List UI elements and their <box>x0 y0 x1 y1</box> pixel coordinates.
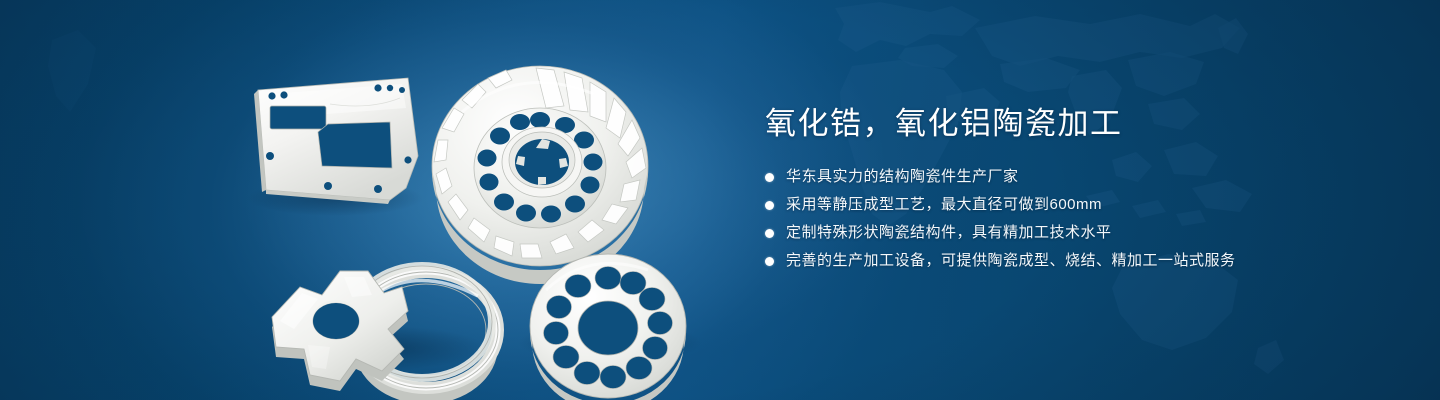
feature-text: 完善的生产加工设备，可提供陶瓷成型、烧结、精加工一站式服务 <box>786 250 1236 272</box>
ceramic-plate-part <box>254 78 418 204</box>
banner-text-block: 氧化锆，氧化铝陶瓷加工 华东具实力的结构陶瓷件生产厂家 采用等静压成型工艺，最大… <box>765 104 1385 278</box>
ceramic-products-image <box>230 38 710 388</box>
ceramic-processing-banner: 氧化锆，氧化铝陶瓷加工 华东具实力的结构陶瓷件生产厂家 采用等静压成型工艺，最大… <box>0 0 1440 400</box>
feature-text: 采用等静压成型工艺，最大直径可做到600mm <box>786 194 1102 216</box>
list-item: 完善的生产加工设备，可提供陶瓷成型、烧结、精加工一站式服务 <box>765 250 1385 272</box>
ceramic-hole-disc-part <box>530 254 686 400</box>
list-item: 华东具实力的结构陶瓷件生产厂家 <box>765 166 1385 188</box>
bullet-dot-icon <box>765 201 774 210</box>
list-item: 采用等静压成型工艺，最大直径可做到600mm <box>765 194 1385 216</box>
bullet-dot-icon <box>765 257 774 266</box>
ceramic-impeller-part <box>432 66 648 284</box>
feature-text: 定制特殊形状陶瓷结构件，具有精加工技术水平 <box>786 222 1112 244</box>
list-item: 定制特殊形状陶瓷结构件，具有精加工技术水平 <box>765 222 1385 244</box>
bullet-dot-icon <box>765 173 774 182</box>
feature-list: 华东具实力的结构陶瓷件生产厂家 采用等静压成型工艺，最大直径可做到600mm 定… <box>765 166 1385 272</box>
page-title: 氧化锆，氧化铝陶瓷加工 <box>765 104 1385 144</box>
bullet-dot-icon <box>765 229 774 238</box>
feature-text: 华东具实力的结构陶瓷件生产厂家 <box>786 166 1019 188</box>
